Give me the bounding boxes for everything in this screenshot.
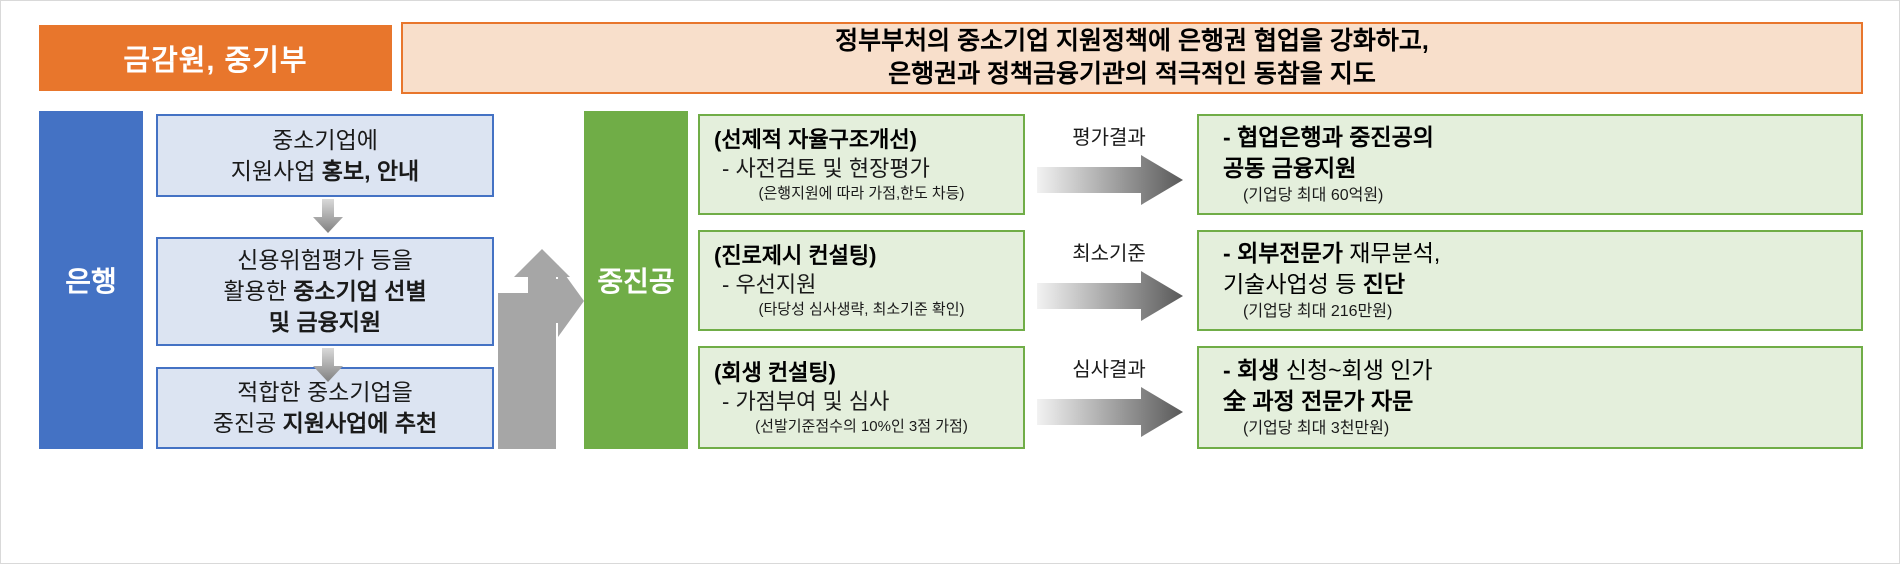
- program-title: (진로제시 컨설팅): [700, 241, 1023, 270]
- down-arrow-icon: [311, 348, 345, 382]
- connector-evaluation-result: 평가결과: [1029, 121, 1189, 213]
- bank-step-line: 중진공 지원사업에 추천: [213, 408, 437, 439]
- bank-step-line: 신용위험평가 등을: [237, 245, 413, 276]
- program-detail: - 우선지원: [700, 270, 1023, 299]
- result-note: (기업당 최대 60억원): [1199, 184, 1861, 208]
- government-org-label: 금감원, 중기부: [123, 37, 307, 79]
- result-line: - 외부전문가 재무분석,: [1199, 238, 1861, 269]
- program-detail: - 가점부여 및 심사: [700, 387, 1023, 416]
- connector-label: 평가결과: [1029, 121, 1189, 150]
- result-line: 공동 금융지원: [1199, 153, 1861, 184]
- right-arrow-icon: [1037, 387, 1183, 437]
- program-detail: - 사전검토 및 현장평가: [700, 154, 1023, 183]
- connector-review-result: 심사결과: [1029, 353, 1189, 445]
- government-org-box: 금감원, 중기부: [39, 25, 392, 91]
- bank-step-promotion: 중소기업에지원사업 홍보, 안내: [156, 114, 494, 197]
- policy-line-1: 정부부처의 중소기업 지원정책에 은행권 협업을 강화하고,: [835, 25, 1429, 58]
- program-note: (선발기준점수의 10%인 3점 가점): [700, 416, 1023, 438]
- right-arrow-icon: [1037, 155, 1183, 205]
- agency-column-label: 중진공: [597, 260, 674, 300]
- result-note: (기업당 최대 216만원): [1199, 300, 1861, 324]
- elbow-arrow-icon: [498, 249, 584, 449]
- result-line: 기술사업성 등 진단: [1199, 269, 1861, 300]
- connector-label: 최소기준: [1029, 237, 1189, 266]
- agency-column-bar: 중진공: [584, 111, 688, 449]
- program-note: (타당성 심사생략, 최소기준 확인): [700, 299, 1023, 321]
- bank-step-line: 및 금융지원: [269, 307, 381, 338]
- program-title: (선제적 자율구조개선): [700, 125, 1023, 154]
- result-line: - 회생 신청~회생 인가: [1199, 355, 1861, 386]
- diagram-canvas: 금감원, 중기부 정부부처의 중소기업 지원정책에 은행권 협업을 강화하고, …: [0, 0, 1900, 564]
- bank-column-bar: 은행: [39, 111, 143, 449]
- program-title: (회생 컨설팅): [700, 358, 1023, 387]
- bank-column-label: 은행: [65, 260, 117, 300]
- bank-step-line: 활용한 중소기업 선별: [223, 276, 426, 307]
- result-note: (기업당 최대 3천만원): [1199, 417, 1861, 441]
- right-arrow-icon: [1037, 271, 1183, 321]
- policy-statement-box: 정부부처의 중소기업 지원정책에 은행권 협업을 강화하고, 은행권과 정책금융…: [401, 22, 1863, 94]
- result-box-expert-diagnosis: - 외부전문가 재무분석,기술사업성 등 진단(기업당 최대 216만원): [1197, 230, 1863, 331]
- bank-step-line: 지원사업 홍보, 안내: [231, 156, 419, 187]
- bank-step-screening: 신용위험평가 등을활용한 중소기업 선별및 금융지원: [156, 237, 494, 346]
- result-box-rehab-advisory: - 회생 신청~회생 인가全 과정 전문가 자문(기업당 최대 3천만원): [1197, 346, 1863, 449]
- connector-minimum-standard: 최소기준: [1029, 237, 1189, 329]
- result-line: 全 과정 전문가 자문: [1199, 386, 1861, 417]
- program-box-consulting: (진로제시 컨설팅) - 우선지원 (타당성 심사생략, 최소기준 확인): [698, 230, 1025, 331]
- connector-label: 심사결과: [1029, 353, 1189, 382]
- result-box-joint-financing: - 협업은행과 중진공의공동 금융지원(기업당 최대 60억원): [1197, 114, 1863, 215]
- policy-line-2: 은행권과 정책금융기관의 적극적인 동참을 지도: [888, 58, 1376, 91]
- bank-step-line: 중소기업에: [272, 125, 378, 156]
- down-arrow-icon: [311, 199, 345, 233]
- result-line: - 협업은행과 중진공의: [1199, 122, 1861, 153]
- program-box-preemptive: (선제적 자율구조개선) - 사전검토 및 현장평가 (은행지원에 따라 가점,…: [698, 114, 1025, 215]
- program-note: (은행지원에 따라 가점,한도 차등): [700, 183, 1023, 205]
- program-box-rehabilitation: (회생 컨설팅) - 가점부여 및 심사 (선발기준점수의 10%인 3점 가점…: [698, 346, 1025, 449]
